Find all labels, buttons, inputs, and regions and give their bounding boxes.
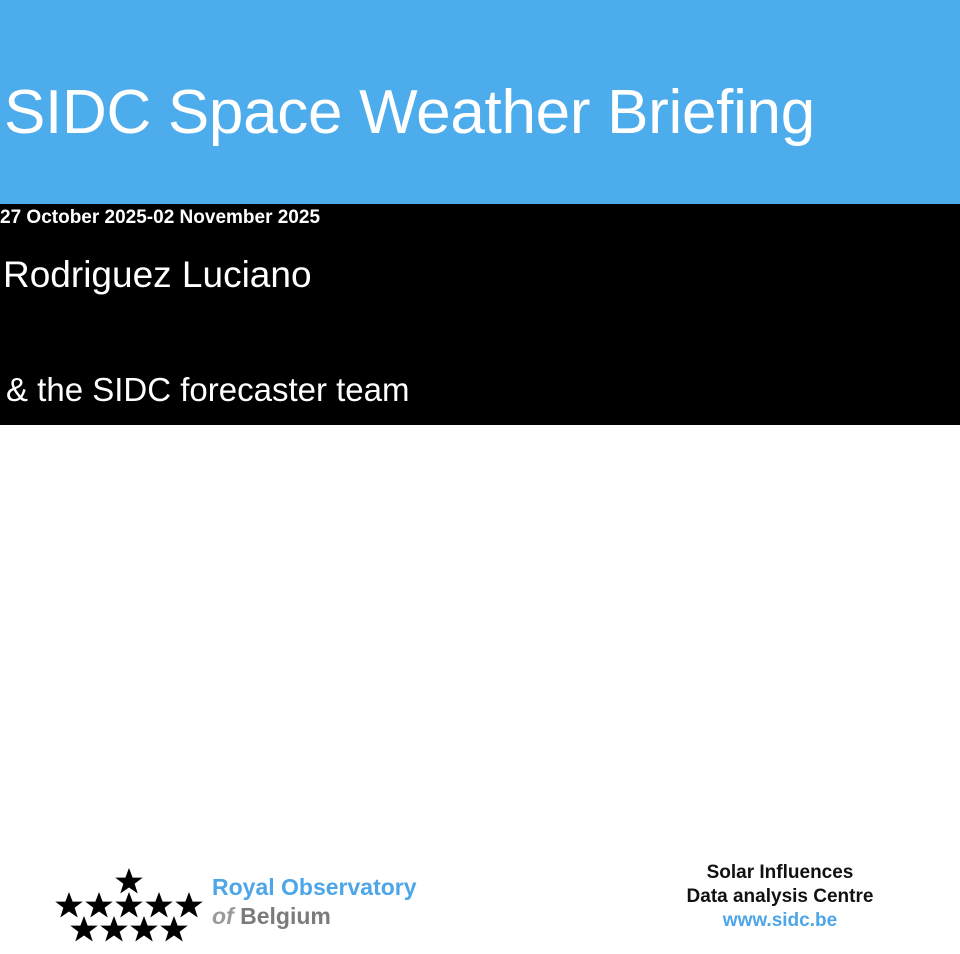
sidc-line-data-analysis-centre: Data analysis Centre [620, 885, 940, 909]
rob-of-word: of [212, 903, 234, 929]
royal-observatory-logo: Royal Observatory of Belgium [55, 866, 455, 954]
star-icon [69, 914, 99, 944]
presentation-slide: SIDC Space Weather Briefing 27 October 2… [0, 0, 960, 540]
rob-line-royal-observatory: Royal Observatory [212, 873, 462, 902]
forecaster-team-label: & the SIDC forecaster team [6, 369, 410, 411]
slide-title: SIDC Space Weather Briefing [4, 76, 815, 150]
star-icon [159, 914, 189, 944]
star-row-bottom [55, 914, 203, 944]
royal-observatory-wordmark: Royal Observatory of Belgium [212, 873, 462, 931]
slide-footer: Royal Observatory of Belgium Solar Influ… [0, 425, 960, 540]
star-icon [129, 914, 159, 944]
sidc-line-solar-influences: Solar Influences [620, 861, 940, 885]
sidc-website-link[interactable]: www.sidc.be [620, 909, 940, 933]
sidc-credit-block: Solar Influences Data analysis Centre ww… [620, 861, 940, 933]
presenter-name: Rodriguez Luciano [3, 252, 312, 298]
rob-belgium-word: Belgium [234, 903, 331, 929]
date-range-label: 27 October 2025-02 November 2025 [0, 206, 320, 230]
stars-emblem-icon [55, 866, 203, 952]
rob-line-of-belgium: of Belgium [212, 902, 462, 931]
star-icon [99, 914, 129, 944]
